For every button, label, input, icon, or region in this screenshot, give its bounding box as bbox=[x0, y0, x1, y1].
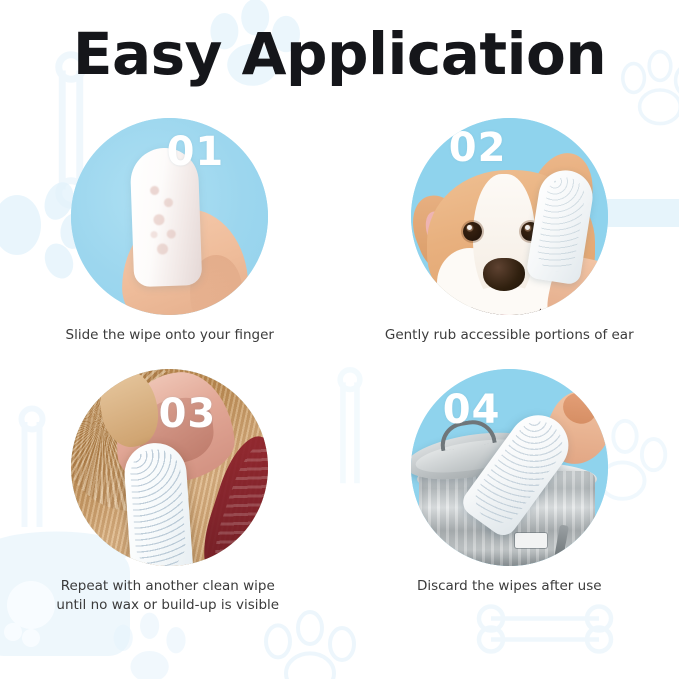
step-image-02: 02 bbox=[411, 118, 608, 315]
step-image-03: 03 bbox=[71, 369, 268, 566]
step-number-01: 01 bbox=[167, 129, 225, 175]
step-image-01: 01 bbox=[71, 118, 268, 315]
step-number-03: 03 bbox=[159, 391, 217, 437]
step-number-04: 04 bbox=[443, 387, 501, 433]
step-card-01: 01 Slide the wipe onto your finger bbox=[0, 118, 340, 346]
steps-row-2: 03 Repeat with another clean wipe until … bbox=[0, 369, 679, 616]
wipe-on-finger bbox=[123, 441, 194, 566]
step-card-02: 02 Gently rub accessible portions of ear bbox=[340, 118, 679, 346]
step-card-03: 03 Repeat with another clean wipe until … bbox=[0, 369, 340, 616]
step-caption-03: Repeat with another clean wipe until no … bbox=[56, 577, 279, 616]
corgi-dog-illustration bbox=[411, 118, 608, 315]
trash-can-label bbox=[515, 533, 547, 548]
page-title: Easy Application bbox=[0, 24, 679, 85]
step-caption-01: Slide the wipe onto your finger bbox=[66, 326, 274, 346]
step-caption-02: Gently rub accessible portions of ear bbox=[385, 326, 634, 346]
step-number-02: 02 bbox=[449, 125, 507, 171]
steps-row-1: 01 Slide the wipe onto your finger bbox=[0, 118, 679, 346]
step-image-04: 04 bbox=[411, 369, 608, 566]
dog-nose bbox=[483, 258, 525, 291]
wipe-texture bbox=[141, 167, 187, 273]
step-caption-04: Discard the wipes after use bbox=[417, 577, 602, 597]
dog-left-eye bbox=[463, 222, 482, 241]
easy-application-infographic: Easy Application 01 Slide the wipe onto … bbox=[0, 0, 679, 679]
steps-grid: 01 Slide the wipe onto your finger bbox=[0, 118, 679, 616]
trash-can-illustration bbox=[411, 369, 608, 566]
step-card-04: 04 Discard the wipes after use bbox=[340, 369, 679, 616]
